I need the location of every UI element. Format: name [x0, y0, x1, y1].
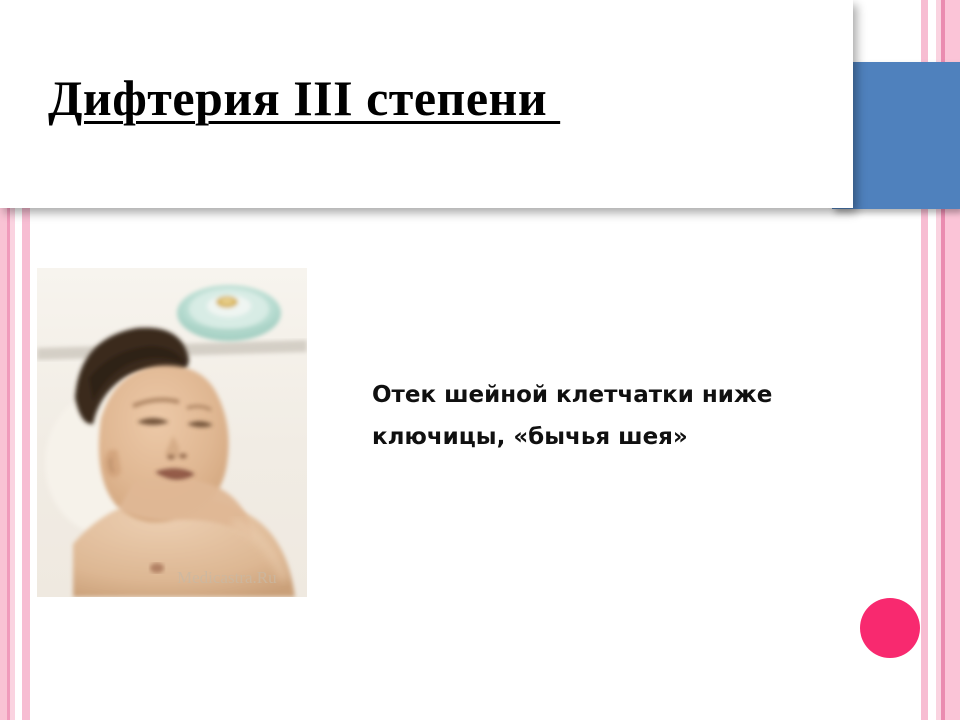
clinical-photo: Medicastra.Ru [37, 268, 307, 597]
slide-canvas: Дифтерия III степени Отек шейной клетчат… [0, 0, 960, 720]
clinical-photo-illustration: Medicastra.Ru [37, 268, 307, 597]
photo-watermark: Medicastra.Ru [177, 568, 277, 587]
body-caption: Отек шейной клетчатки ниже ключицы, «быч… [372, 374, 852, 458]
title-panel: Дифтерия III степени [0, 0, 853, 208]
pink-circle-accent [860, 598, 920, 658]
page-title: Дифтерия III степени [48, 70, 560, 126]
